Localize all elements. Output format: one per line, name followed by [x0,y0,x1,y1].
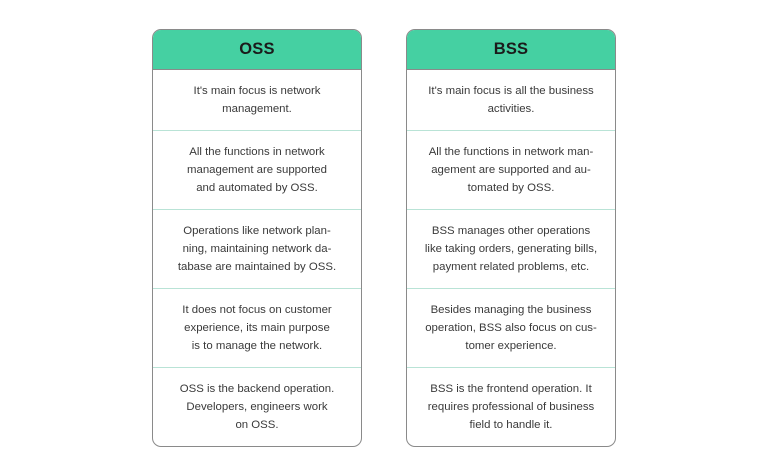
table-row: All the functions in network man- agemen… [407,131,615,210]
table-cell-text: BSS manages other operations like taking… [418,222,604,276]
table-row: All the functions in network management … [153,131,361,210]
column-header-title-oss: OSS [239,40,274,59]
table-row: OSS is the backend operation. Developers… [153,368,361,446]
comparison-table: OSS It's main focus is network managemen… [0,0,768,450]
table-row: Operations like network plan- ning, main… [153,210,361,289]
column-rows-oss: It's main focus is network management. A… [153,70,361,446]
column-rows-bss: It's main focus is all the business acti… [407,70,615,446]
table-row: BSS is the frontend operation. It requir… [407,368,615,446]
table-cell-text: Operations like network plan- ning, main… [164,222,350,276]
table-row: It's main focus is network management. [153,70,361,131]
table-cell-text: All the functions in network management … [164,143,350,197]
column-header-oss: OSS [153,30,361,70]
table-cell-text: Besides managing the business operation,… [418,301,604,355]
table-cell-text: It does not focus on customer experience… [164,301,350,355]
table-cell-text: OSS is the backend operation. Developers… [164,380,350,434]
table-row: It does not focus on customer experience… [153,289,361,368]
comparison-column-bss: BSS It's main focus is all the business … [406,29,616,447]
table-row: BSS manages other operations like taking… [407,210,615,289]
table-cell-text: It's main focus is all the business acti… [418,82,604,118]
column-header-title-bss: BSS [494,40,529,59]
table-cell-text: BSS is the frontend operation. It requir… [418,380,604,434]
table-row: It's main focus is all the business acti… [407,70,615,131]
table-cell-text: All the functions in network man- agemen… [418,143,604,197]
table-cell-text: It's main focus is network management. [164,82,350,118]
column-header-bss: BSS [407,30,615,70]
comparison-column-oss: OSS It's main focus is network managemen… [152,29,362,447]
table-row: Besides managing the business operation,… [407,289,615,368]
